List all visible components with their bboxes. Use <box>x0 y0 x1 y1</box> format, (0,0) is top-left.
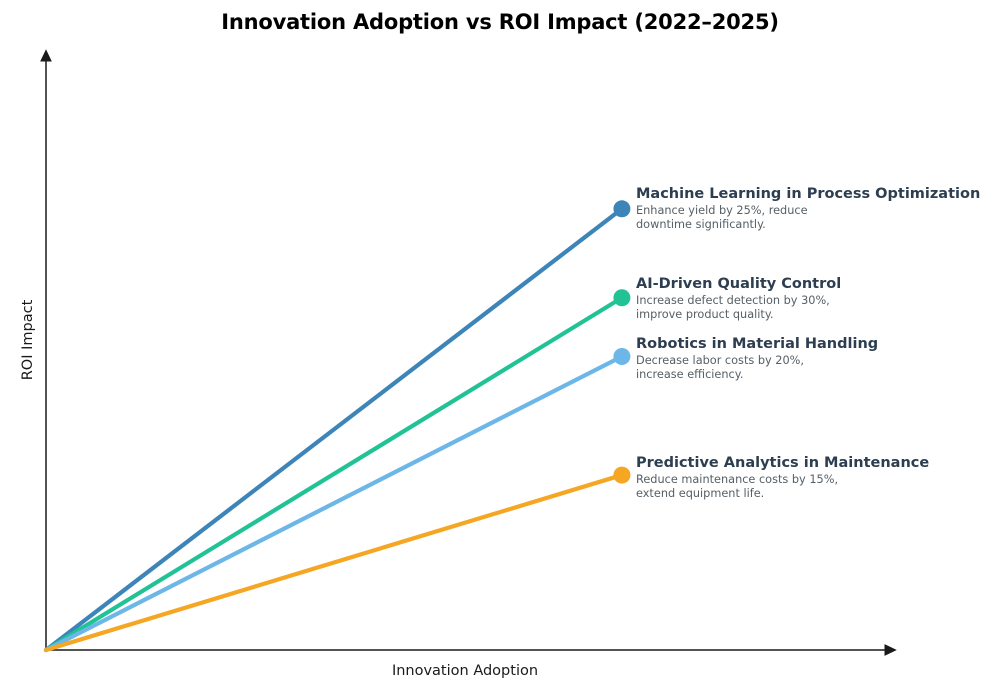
series-line <box>46 298 622 650</box>
chart-figure: Innovation Adoption vs ROI Impact (2022–… <box>0 0 1000 700</box>
series-endpoint-marker[interactable] <box>613 289 630 306</box>
annotation-robotics-material-handling[interactable]: Robotics in Material Handling Decrease l… <box>636 336 996 381</box>
series-line <box>46 209 622 650</box>
series-endpoint-marker[interactable] <box>613 200 630 217</box>
annotation-description: Decrease labor costs by 20%, increase ef… <box>636 354 996 381</box>
series-endpoint-marker[interactable] <box>613 467 630 484</box>
x-axis-label: Innovation Adoption <box>0 663 930 679</box>
series-endpoint-marker[interactable] <box>613 348 630 365</box>
annotation-title: AI-Driven Quality Control <box>636 276 996 292</box>
annotation-machine-learning[interactable]: Machine Learning in Process Optimization… <box>636 186 996 231</box>
annotation-description: Reduce maintenance costs by 15%, extend … <box>636 473 996 500</box>
annotation-ai-driven-quality-control[interactable]: AI-Driven Quality Control Increase defec… <box>636 276 996 321</box>
annotation-description: Enhance yield by 25%, reduce downtime si… <box>636 204 996 231</box>
annotation-title: Predictive Analytics in Maintenance <box>636 455 996 471</box>
annotation-title: Machine Learning in Process Optimization <box>636 186 996 202</box>
y-axis-label: ROI Impact <box>20 265 36 415</box>
series-layer <box>46 200 630 650</box>
annotation-description: Increase defect detection by 30%, improv… <box>636 294 996 321</box>
annotation-predictive-analytics-maintenance[interactable]: Predictive Analytics in Maintenance Redu… <box>636 455 996 500</box>
annotation-title: Robotics in Material Handling <box>636 336 996 352</box>
